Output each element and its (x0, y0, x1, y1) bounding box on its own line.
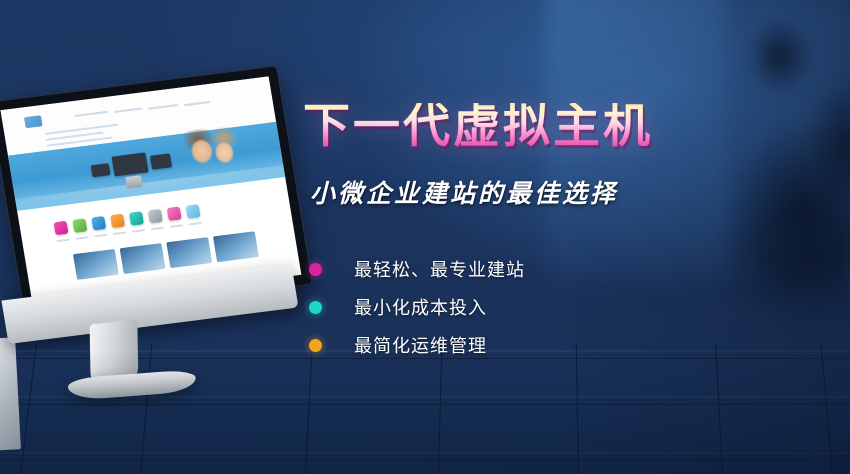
feature-label: 最简化运维管理 (354, 332, 487, 358)
bullet-dot-magenta (309, 263, 322, 276)
feature-list-item: 最轻松、最专业建站 (305, 250, 525, 288)
feature-label: 最轻松、最专业建站 (354, 256, 525, 282)
feature-label: 最小化成本投入 (354, 294, 487, 320)
hero-banner: 下一代虚拟主机 小微企业建站的最佳选择 最轻松、最专业建站 最小化成本投入 最简… (0, 0, 850, 474)
banner-vignette-overlay (0, 0, 850, 474)
bullet-dot-teal (309, 301, 322, 314)
page-title: 下一代虚拟主机 (303, 103, 653, 150)
feature-list-item: 最简化运维管理 (305, 326, 525, 364)
page-subtitle: 小微企业建站的最佳选择 (310, 181, 618, 206)
feature-list: 最轻松、最专业建站 最小化成本投入 最简化运维管理 (305, 250, 525, 364)
bullet-dot-orange (309, 339, 322, 352)
feature-list-item: 最小化成本投入 (305, 288, 525, 326)
